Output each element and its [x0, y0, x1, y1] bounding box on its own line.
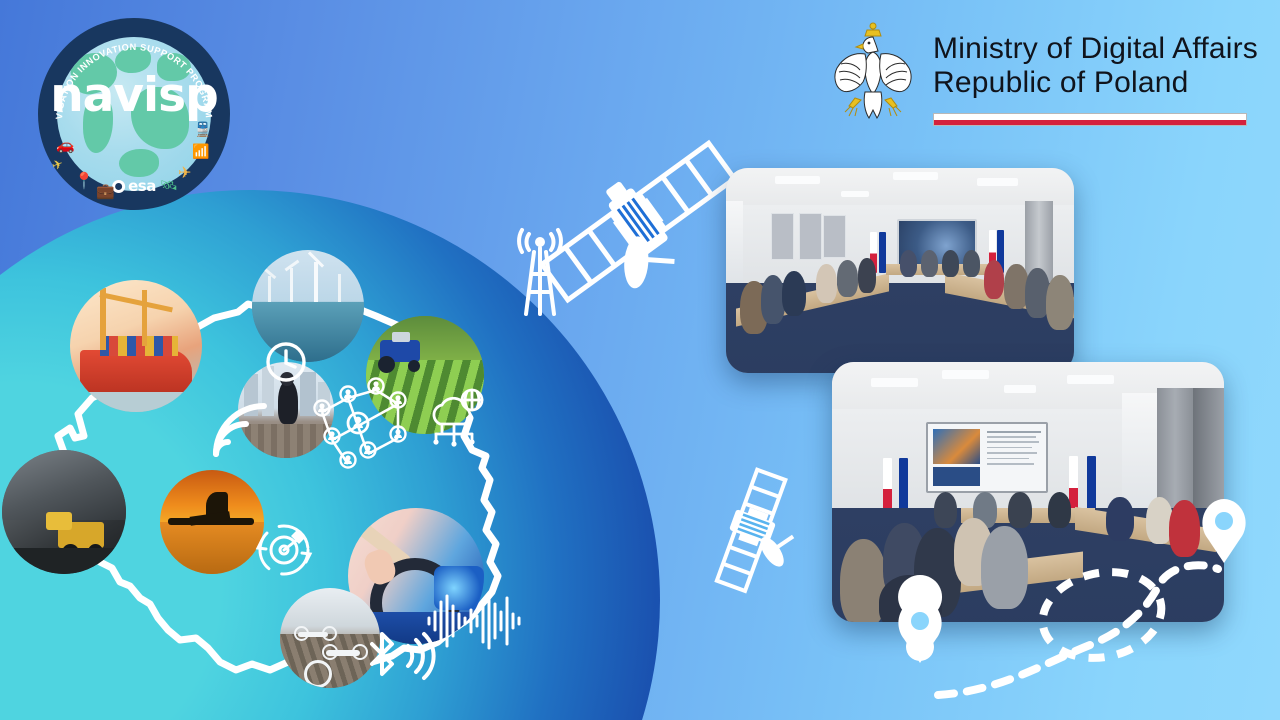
wifi-icon: 📶: [192, 144, 209, 158]
photo-conference-room-top: [726, 168, 1074, 373]
map-pin-end: [1202, 499, 1245, 563]
bubble-aviation: [160, 470, 264, 574]
satellite-large-icon: [528, 128, 748, 318]
radar-target-icon: [252, 518, 316, 582]
flag-red-stripe: [934, 120, 1246, 126]
gnss-route-overlay: [880, 495, 1280, 720]
wifi-signal-icon: [208, 386, 280, 460]
ministry-of-digital-affairs-logo[interactable]: Ministry of Digital Affairs Republic of …: [827, 20, 1258, 128]
audio-waveform-icon: [426, 592, 522, 636]
satellite-small-icon: [688, 466, 818, 596]
plane-icon: ✈: [178, 166, 191, 182]
bubble-port-shipping: [70, 280, 202, 412]
esa-logo: esa: [112, 177, 156, 195]
bluetooth-icon: [360, 628, 432, 686]
social-network-icon: [302, 378, 428, 474]
train-icon: 🚆: [194, 122, 211, 136]
map-pin-icon: 📍: [74, 174, 94, 190]
navisp-logo[interactable]: NAVIGATION INNOVATION SUPPORT PROGRAMME …: [38, 18, 230, 210]
poster-canvas: NAVIGATION INNOVATION SUPPORT PROGRAMME …: [0, 0, 1280, 720]
briefcase-icon: 💼: [96, 184, 115, 199]
satellite-icon: 🛰: [160, 178, 178, 192]
cloud-iot-icon: [426, 386, 490, 450]
ministry-title-line2: Republic of Poland: [933, 66, 1258, 100]
ministry-title-line1: Ministry of Digital Affairs: [933, 32, 1258, 66]
map-pin-start: [898, 575, 942, 663]
navisp-wordmark: navisp: [38, 72, 230, 119]
bubble-mining: [2, 450, 126, 574]
car-icon: 🚗: [56, 138, 75, 153]
polish-eagle-emblem: [827, 20, 919, 128]
polish-flag-bar: [933, 113, 1247, 126]
esa-label: esa: [128, 177, 156, 195]
